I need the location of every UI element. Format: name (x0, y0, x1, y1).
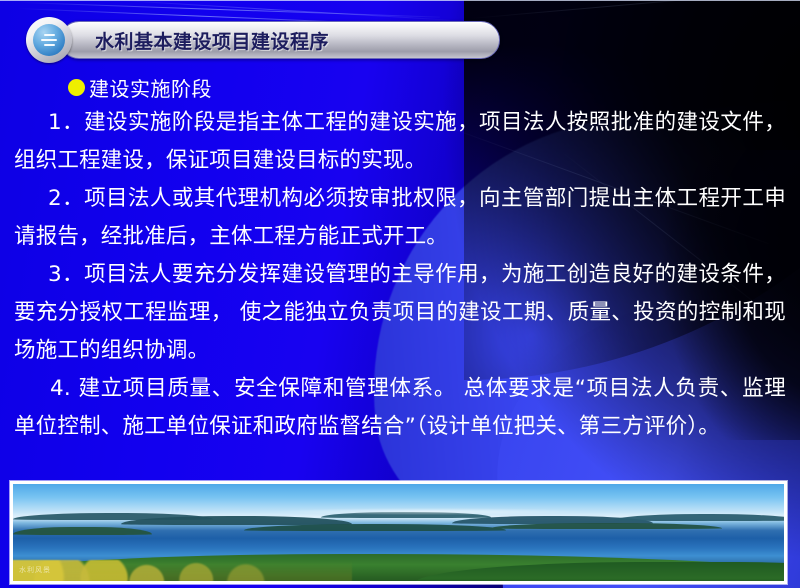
body-paragraph: 2．项目法人或其代理机构必须按审批权限，向主管部门提出主体工程开工申请报告，经批… (14, 180, 786, 256)
slide-body: 1．建设实施阶段是指主体工程的建设实施，项目法人按照批准的建设文件，组织工程建设… (14, 104, 786, 446)
section-heading-label: 建设实施阶段 (89, 73, 212, 102)
water-highlight (275, 508, 583, 515)
top-hairline-divider (0, 0, 800, 1)
body-paragraph: 4. 建立项目质量、安全保障和管理体系。 总体要求是“项目法人负责、监理单位控制… (14, 370, 786, 446)
island-shape (614, 514, 784, 521)
hamburger-lines-icon (26, 17, 72, 63)
slide-photo-frame: 水利风景 (10, 481, 787, 584)
reservoir-panorama-photo: 水利风景 (13, 484, 784, 581)
bullet-dot-icon (68, 79, 85, 96)
photo-watermark: 水利风景 (19, 565, 51, 575)
page-title: 水利基本建设项目建设程序 (95, 27, 329, 54)
island-shape (121, 516, 352, 525)
foreground-flowers (13, 560, 352, 581)
slide-title-bar: 水利基本建设项目建设程序 (26, 17, 500, 63)
body-paragraph: 3．项目法人要充分发挥建设管理的主导作用，为施工创造良好的建设条件，要充分授权工… (14, 256, 786, 370)
hamburger-lines-icon-glyph (33, 24, 65, 56)
body-paragraph: 1．建设实施阶段是指主体工程的建设实施，项目法人按照批准的建设文件，组织工程建设… (14, 104, 786, 180)
slide-title-plate: 水利基本建设项目建设程序 (60, 21, 500, 59)
island-shape (244, 524, 506, 531)
presentation-slide: 水利基本建设项目建设程序 建设实施阶段 1．建设实施阶段是指主体工程的建设实施，… (0, 0, 800, 588)
island-shape (13, 527, 152, 536)
island-shape (491, 523, 722, 529)
section-heading: 建设实施阶段 (68, 73, 212, 102)
